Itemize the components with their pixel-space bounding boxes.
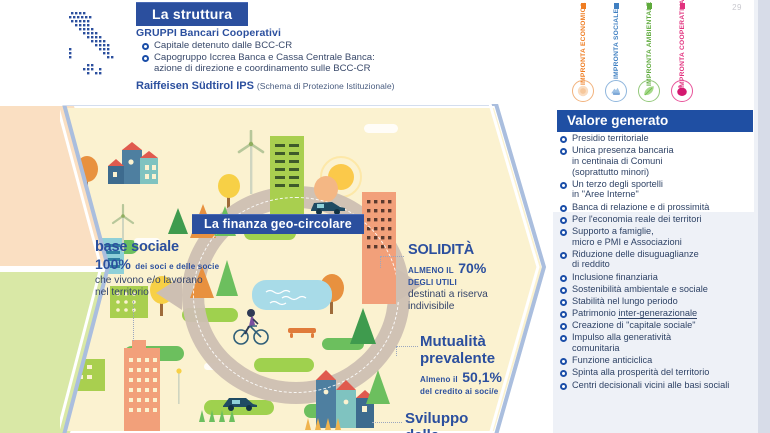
valore-list-item-line: Centri decisionali vicini alle basi soci… bbox=[572, 380, 729, 390]
valore-generato-list: Presidio territorialeUnica presenza banc… bbox=[560, 133, 756, 428]
valore-list-item-line: Per l'economia reale dei territori bbox=[572, 214, 701, 224]
cloud-shape bbox=[364, 124, 398, 133]
callout-base-sociale: base sociale 100% dei soci e delle socie… bbox=[95, 239, 275, 300]
bullet-icon bbox=[560, 205, 567, 212]
struttura-footer-bold: Raiffeisen Südtirol IPS bbox=[136, 80, 254, 92]
valore-list-item-text: Creazione di "capitale sociale" bbox=[572, 320, 695, 331]
footprint-badge-sociale[interactable]: IMPRONTA SOCIALE bbox=[603, 3, 629, 102]
valore-list-item-line: Patrimonio bbox=[572, 308, 618, 318]
valore-list-item-line: comunitaria bbox=[572, 343, 620, 353]
tree-row bbox=[300, 416, 346, 431]
valore-list-item-line: Creazione di "capitale sociale" bbox=[572, 320, 695, 330]
valore-list-item-line: Presidio territoriale bbox=[572, 133, 649, 143]
valore-list-item-line: Un terzo degli sportelli bbox=[572, 179, 663, 189]
valore-list-item-text: Patrimonio inter-generazionale bbox=[572, 308, 697, 319]
struttura-bullet-2-line1: Capogruppo Iccrea Banca e Cassa Centrale… bbox=[154, 52, 375, 63]
valore-list-item: Funzione anticiclica bbox=[560, 355, 756, 366]
valore-list-item: Presidio territoriale bbox=[560, 133, 756, 144]
callout-solidita-body: destinati a riserva indivisibile bbox=[408, 289, 538, 313]
bullet-icon bbox=[560, 287, 567, 294]
valore-list-item-text: Impulso alla generativitàcomunitaria bbox=[572, 332, 671, 353]
valore-list-item-line: Supporto a famiglie, bbox=[572, 226, 654, 236]
valore-list-item-line: Riduzione delle disuguaglianze bbox=[572, 249, 699, 259]
coin-circle-icon bbox=[572, 80, 594, 102]
callout-mutualita-mini-post: del credito ai soci/e bbox=[420, 387, 540, 396]
footprint-badge-economica[interactable]: IMPRONTA ECONOMICA bbox=[570, 3, 596, 102]
valore-list-item: Spinta alla prosperità del territorio bbox=[560, 367, 756, 378]
valore-list-item: Banca di relazione e di prossimità bbox=[560, 202, 756, 213]
footprint-badge-ambientale[interactable]: IMPRONTA AMBIENTALE bbox=[636, 3, 662, 102]
car-icon bbox=[220, 392, 260, 417]
valore-list-item-line: di reddito bbox=[572, 259, 610, 269]
valore-list-item: Per l'economia reale dei territori bbox=[560, 214, 756, 225]
footprint-label-economica: IMPRONTA ECONOMICA bbox=[580, 11, 587, 77]
callout-solidita-mini-pre: ALMENO IL bbox=[408, 266, 454, 275]
valore-list-item-line: Spinta alla prosperità del territorio bbox=[572, 367, 709, 377]
bullet-icon bbox=[560, 252, 567, 259]
valore-list-item-text: Inclusione finanziaria bbox=[572, 272, 658, 283]
cyclist-icon bbox=[232, 306, 272, 351]
tree-shape bbox=[366, 370, 390, 404]
valore-list-item-line: Banca di relazione e di prossimità bbox=[572, 202, 709, 212]
footprint-label-ambientale: IMPRONTA AMBIENTALE bbox=[646, 11, 653, 77]
valore-list-item-text: Per l'economia reale dei territori bbox=[572, 214, 701, 225]
building-shape bbox=[104, 138, 174, 205]
callout-solidita: SOLIDITÀ ALMENO IL 70% DEGLI UTILI desti… bbox=[408, 242, 538, 314]
struttura-bullet-2-line2: azione di direzione e coordinamento sull… bbox=[154, 63, 371, 74]
bullet-icon bbox=[560, 299, 567, 306]
bullet-icon bbox=[560, 335, 567, 342]
bullet-icon bbox=[560, 370, 567, 377]
valore-list-item: Patrimonio inter-generazionale bbox=[560, 308, 756, 319]
callout-mutualita-line2: prevalente bbox=[420, 351, 540, 368]
struttura-footer: Raiffeisen Südtirol IPS (Schema di Prote… bbox=[136, 80, 536, 92]
callout-solidita-pct: 70% bbox=[458, 260, 486, 276]
struttura-bullet-2-text: Capogruppo Iccrea Banca e Cassa Centrale… bbox=[154, 52, 375, 75]
footprint-badge-cooperativa[interactable]: IMPRONTA COOPERATIVA bbox=[669, 3, 695, 102]
header-section: La struttura GRUPPI Bancari Cooperativi … bbox=[0, 0, 553, 106]
footprint-label-sociale: IMPRONTA SOCIALE bbox=[613, 11, 620, 77]
valore-list-item: Sostenibilità ambientale e sociale bbox=[560, 284, 756, 295]
valore-list-item: Inclusione finanziaria bbox=[560, 272, 756, 283]
valore-list-item-line: Funzione anticiclica bbox=[572, 355, 652, 365]
callout-mutualita-line1: Mutualità bbox=[420, 334, 540, 351]
callout-solidita-title: SOLIDITÀ bbox=[408, 242, 538, 258]
valore-list-item: Impulso alla generativitàcomunitaria bbox=[560, 332, 756, 353]
leader-line-base bbox=[133, 301, 134, 341]
bullet-icon bbox=[560, 311, 567, 318]
bullet-icon bbox=[560, 275, 567, 282]
valore-list-item-line: in centinaia di Comuni bbox=[572, 156, 662, 166]
bullet-icon bbox=[560, 383, 567, 390]
valore-list-item-text: Un terzo degli sportelliin "Aree Interne… bbox=[572, 179, 663, 200]
valore-list-item-line: Sostenibilità ambientale e sociale bbox=[572, 284, 708, 294]
valore-list-item-text: Banca di relazione e di prossimità bbox=[572, 202, 709, 213]
valore-list-item-line: in "Aree Interne" bbox=[572, 189, 639, 199]
tree-shape bbox=[168, 208, 188, 234]
bullet-icon bbox=[560, 148, 567, 155]
leaf-circle-icon bbox=[638, 80, 660, 102]
piggy-bank-circle-icon bbox=[671, 80, 693, 102]
bullet-icon bbox=[142, 55, 149, 62]
bench-leg bbox=[311, 333, 314, 338]
callout-mutualita: Mutualità prevalente Almeno il 50,1% del… bbox=[420, 334, 540, 396]
valore-list-item-text: Funzione anticiclica bbox=[572, 355, 652, 366]
finanza-banner: La finanza geo-circolare bbox=[192, 214, 364, 234]
building-shape bbox=[120, 340, 164, 431]
callout-base-mini: dei soci e delle socie bbox=[135, 262, 219, 271]
page-number: 29 bbox=[732, 3, 742, 12]
valore-list-item-line: Inclusione finanziaria bbox=[572, 272, 658, 282]
right-rail bbox=[758, 0, 770, 433]
valore-list-item-text: Sostenibilità ambientale e sociale bbox=[572, 284, 708, 295]
valore-list-item-line: Unica presenza bancaria bbox=[572, 145, 674, 155]
callout-solidita-mini-post: DEGLI UTILI bbox=[408, 278, 538, 287]
antenna-icon bbox=[174, 368, 184, 409]
valore-list-item-line: inter-generazionale bbox=[618, 308, 697, 319]
bullet-icon bbox=[560, 217, 567, 224]
valore-list-item: Riduzione delle disuguaglianzedi reddito bbox=[560, 249, 756, 270]
italy-map-icon bbox=[63, 8, 125, 82]
leader-line-solidita bbox=[380, 256, 404, 268]
bullet-icon bbox=[560, 182, 567, 189]
valore-list-item-text: Riduzione delle disuguaglianzedi reddito bbox=[572, 249, 699, 270]
bullet-icon bbox=[142, 43, 149, 50]
valore-list-item: Un terzo degli sportelliin "Aree Interne… bbox=[560, 179, 756, 200]
valore-list-item-text: Presidio territoriale bbox=[572, 133, 649, 144]
valore-list-item-text: Spinta alla prosperità del territorio bbox=[572, 367, 709, 378]
callout-sviluppo: Sviluppo della cooperazione 3% DEGLI UTI… bbox=[405, 411, 515, 433]
valore-list-item: Centri decisionali vicini alle basi soci… bbox=[560, 380, 756, 391]
bullet-icon bbox=[560, 136, 567, 143]
footprint-badges: IMPRONTA ECONOMICA IMPRONTA SOCIALE IMPR… bbox=[570, 2, 700, 102]
bullet-icon bbox=[560, 323, 567, 330]
struttura-heading: GRUPPI Bancari Cooperativi bbox=[136, 27, 536, 39]
valore-list-item-line: micro e PMI e Associazioni bbox=[572, 237, 682, 247]
struttura-bullet-1-text: Capitale detenuto dalle BCC-CR bbox=[154, 40, 292, 52]
valore-list-item-text: Supporto a famiglie,micro e PMI e Associ… bbox=[572, 226, 682, 247]
valore-list-item: Creazione di "capitale sociale" bbox=[560, 320, 756, 331]
valore-list-item-text: Centri decisionali vicini alle basi soci… bbox=[572, 380, 729, 391]
struttura-bullet-1: Capitale detenuto dalle BCC-CR bbox=[142, 40, 536, 52]
callout-base-body: che vivono e/o lavorano nel territorio bbox=[95, 275, 275, 299]
hands-circle-icon bbox=[605, 80, 627, 102]
valore-list-item-text: Unica presenza bancariain centinaia di C… bbox=[572, 145, 674, 177]
footprint-label-cooperativa: IMPRONTA COOPERATIVA bbox=[679, 11, 686, 77]
bench-leg bbox=[290, 333, 293, 338]
bullet-icon bbox=[560, 229, 567, 236]
callout-mutualita-pct: 50,1% bbox=[462, 369, 502, 385]
valore-list-item-text: Stabilità nel lungo periodo bbox=[572, 296, 678, 307]
callout-sviluppo-line2: della bbox=[405, 428, 515, 433]
infographic-page: 29 bbox=[0, 0, 770, 433]
bullet-icon bbox=[560, 358, 567, 365]
callout-mutualita-mini-pre: Almeno il bbox=[420, 375, 458, 384]
leader-line-sviluppo bbox=[372, 422, 402, 423]
wind-turbine-icon bbox=[236, 130, 266, 199]
valore-list-item-line: (soprattutto minori) bbox=[572, 167, 649, 177]
struttura-body: GRUPPI Bancari Cooperativi Capitale dete… bbox=[136, 27, 536, 92]
valore-list-item-line: Stabilità nel lungo periodo bbox=[572, 296, 678, 306]
callout-base-title: base sociale bbox=[95, 239, 275, 255]
valore-list-item: Stabilità nel lungo periodo bbox=[560, 296, 756, 307]
valore-list-item: Unica presenza bancariain centinaia di C… bbox=[560, 145, 756, 177]
callout-sviluppo-line1: Sviluppo bbox=[405, 411, 515, 428]
leader-line-mutualita bbox=[396, 346, 418, 356]
struttura-banner: La struttura bbox=[136, 2, 248, 26]
valore-banner: Valore generato bbox=[557, 110, 753, 132]
callout-base-pct: 100% bbox=[95, 256, 131, 272]
valore-list-item: Supporto a famiglie,micro e PMI e Associ… bbox=[560, 226, 756, 247]
struttura-bullet-2: Capogruppo Iccrea Banca e Cassa Centrale… bbox=[142, 52, 536, 75]
tree-shape bbox=[218, 174, 240, 198]
valore-list-item-line: Impulso alla generatività bbox=[572, 332, 671, 342]
struttura-footer-small: (Schema di Protezione Istituzionale) bbox=[257, 81, 395, 91]
